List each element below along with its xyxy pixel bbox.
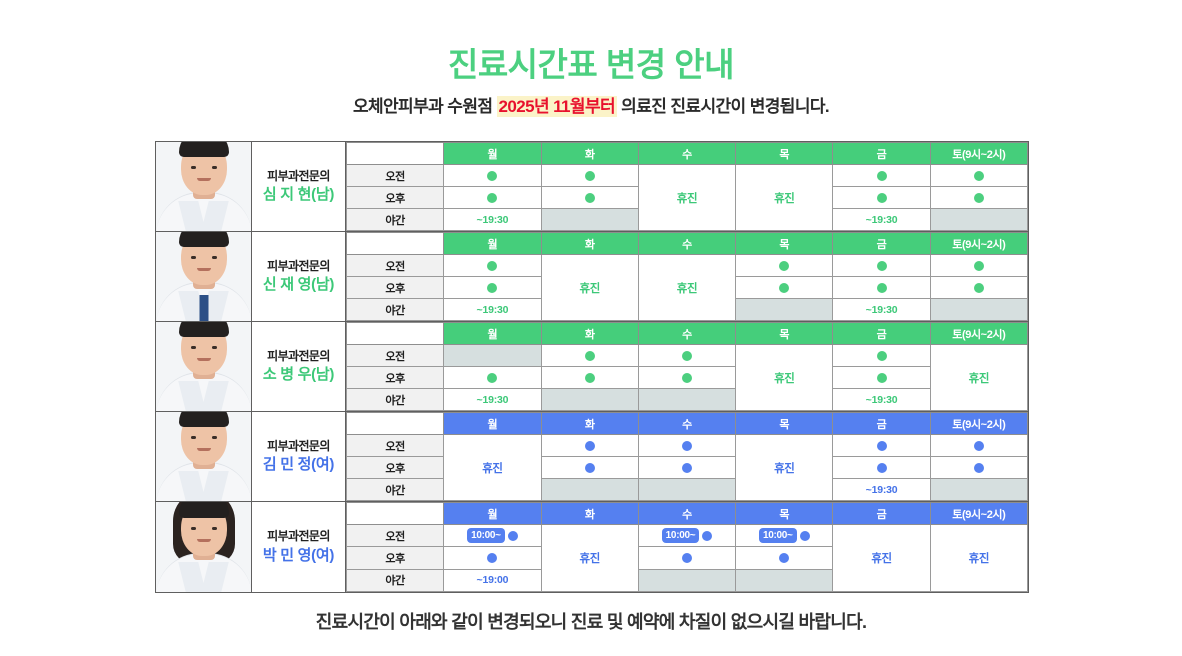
day-cell-available	[930, 165, 1027, 187]
doctor-portrait	[156, 322, 251, 411]
day-cell-time: ~19:30	[833, 299, 930, 321]
time-row-label: 야간	[347, 479, 444, 501]
schedule-row: 오전휴진휴진	[347, 345, 1028, 367]
day-cell-available	[444, 367, 541, 389]
doctor-name-cell: 피부과전문의 김 민 정(여)	[252, 412, 346, 501]
day-cell-available	[638, 367, 735, 389]
subtitle-highlight: 2025년 11월부터	[497, 96, 617, 117]
rest-label: 휴진	[580, 553, 600, 565]
available-dot-icon	[487, 553, 497, 563]
available-dot-icon	[779, 553, 789, 563]
available-dot-icon	[585, 193, 595, 203]
day-cell-available	[833, 435, 930, 457]
day-header-1: 화	[541, 143, 638, 165]
start-time-badge: 10:00~	[467, 528, 505, 543]
rest-label: 휴진	[677, 193, 697, 205]
rest-label: 휴진	[774, 193, 794, 205]
day-cell-unavailable	[444, 345, 541, 367]
day-cell-available	[833, 187, 930, 209]
day-cell-available	[444, 187, 541, 209]
day-cell-available	[444, 255, 541, 277]
available-dot-icon	[877, 373, 887, 383]
doctor-portrait	[156, 232, 251, 321]
schedule-row: 오전휴진휴진	[347, 435, 1028, 457]
day-cell-available	[930, 277, 1027, 299]
available-dot-icon	[974, 261, 984, 271]
night-time-text: ~19:30	[477, 394, 509, 406]
doctor-photo-cell	[156, 502, 252, 592]
doctor-schedule-grid: 월화수목금토(9시~2시)오전휴진휴진오후야간~19:30~19:30	[346, 142, 1028, 231]
day-cell-available	[930, 457, 1027, 479]
doctor-schedule-grid: 월화수목금토(9시~2시)오전휴진휴진오후야간~19:30	[346, 412, 1028, 501]
available-dot-icon	[508, 531, 518, 541]
doctor-specialty: 피부과전문의	[267, 438, 330, 454]
day-cell-available	[833, 255, 930, 277]
time-row-label: 야간	[347, 209, 444, 231]
start-time-badge: 10:00~	[662, 528, 700, 543]
day-header-2: 수	[638, 233, 735, 255]
doctor-name-cell: 피부과전문의 심 지 현(남)	[252, 142, 346, 231]
doctor-name: 김 민 정(여)	[263, 454, 334, 475]
rest-label: 휴진	[482, 463, 502, 475]
doctor-portrait	[156, 502, 251, 592]
day-cell-available	[444, 547, 541, 569]
available-dot-icon	[800, 531, 810, 541]
day-cell-unavailable	[930, 299, 1027, 321]
schedule-row: 오전휴진휴진	[347, 255, 1028, 277]
day-cell-available	[638, 345, 735, 367]
day-header-1: 화	[541, 413, 638, 435]
header-corner	[347, 323, 444, 345]
header-corner	[347, 503, 444, 525]
day-header-4: 금	[833, 323, 930, 345]
day-cell-unavailable	[638, 389, 735, 411]
day-header-1: 화	[541, 323, 638, 345]
available-dot-icon	[487, 171, 497, 181]
available-dot-icon	[585, 441, 595, 451]
day-header-4: 금	[833, 413, 930, 435]
time-row-label: 야간	[347, 569, 444, 591]
day-header-4: 금	[833, 503, 930, 525]
available-dot-icon	[877, 441, 887, 451]
day-cell-rest: 휴진	[541, 255, 638, 321]
night-time-text: ~19:30	[866, 214, 898, 226]
day-header-3: 목	[736, 503, 833, 525]
available-dot-icon	[585, 351, 595, 361]
day-cell-time: ~19:30	[833, 209, 930, 231]
day-cell-unavailable	[541, 389, 638, 411]
schedule-notice-page: 진료시간표 변경 안내 오체안피부과 수원점 2025년 11월부터 의료진 진…	[0, 0, 1182, 656]
available-dot-icon	[877, 193, 887, 203]
doctor-portrait	[156, 412, 251, 501]
day-cell-badge: 10:00~	[736, 525, 833, 547]
day-header-0: 월	[444, 323, 541, 345]
day-cell-available	[930, 255, 1027, 277]
doctor-specialty: 피부과전문의	[267, 528, 330, 544]
night-time-text: ~19:30	[866, 394, 898, 406]
day-header-5: 토(9시~2시)	[930, 503, 1027, 525]
day-header-1: 화	[541, 233, 638, 255]
schedule-row: 오전휴진휴진	[347, 165, 1028, 187]
available-dot-icon	[682, 553, 692, 563]
available-dot-icon	[682, 463, 692, 473]
day-cell-rest: 휴진	[638, 165, 735, 231]
doctor-name: 신 재 영(남)	[263, 274, 334, 295]
doctor-name-cell: 피부과전문의 신 재 영(남)	[252, 232, 346, 321]
available-dot-icon	[974, 283, 984, 293]
day-header-5: 토(9시~2시)	[930, 143, 1027, 165]
available-dot-icon	[487, 193, 497, 203]
day-cell-badge: 10:00~	[444, 525, 541, 547]
doctor-name: 소 병 우(남)	[263, 364, 334, 385]
day-cell-unavailable	[930, 209, 1027, 231]
day-header-0: 월	[444, 233, 541, 255]
header-corner	[347, 233, 444, 255]
available-dot-icon	[682, 441, 692, 451]
day-header-row: 월화수목금토(9시~2시)	[347, 233, 1028, 255]
time-row-label: 오후	[347, 187, 444, 209]
available-dot-icon	[779, 261, 789, 271]
day-cell-unavailable	[638, 569, 735, 591]
day-cell-available	[833, 277, 930, 299]
day-cell-available	[541, 165, 638, 187]
rest-label: 휴진	[580, 283, 600, 295]
schedule-row: 오후	[347, 367, 1028, 389]
rest-label: 휴진	[969, 373, 989, 385]
day-header-0: 월	[444, 413, 541, 435]
available-dot-icon	[487, 261, 497, 271]
available-dot-icon	[877, 351, 887, 361]
rest-label: 휴진	[774, 463, 794, 475]
available-dot-icon	[487, 283, 497, 293]
doctor-photo-cell	[156, 322, 252, 411]
available-dot-icon	[779, 283, 789, 293]
header-corner	[347, 413, 444, 435]
doctor-photo-cell	[156, 232, 252, 321]
day-cell-badge: 10:00~	[638, 525, 735, 547]
day-header-0: 월	[444, 143, 541, 165]
day-cell-rest: 휴진	[833, 525, 930, 592]
time-row-label: 오전	[347, 165, 444, 187]
available-dot-icon	[877, 171, 887, 181]
available-dot-icon	[585, 463, 595, 473]
doctor-name-cell: 피부과전문의 박 민 영(여)	[252, 502, 346, 592]
day-cell-available	[541, 187, 638, 209]
time-row-label: 오전	[347, 435, 444, 457]
day-cell-available	[736, 547, 833, 569]
night-time-text: ~19:30	[477, 304, 509, 316]
day-cell-available	[541, 345, 638, 367]
day-header-row: 월화수목금토(9시~2시)	[347, 143, 1028, 165]
day-cell-available	[736, 255, 833, 277]
day-header-5: 토(9시~2시)	[930, 233, 1027, 255]
day-cell-rest: 휴진	[444, 435, 541, 501]
available-dot-icon	[877, 261, 887, 271]
day-cell-time: ~19:30	[444, 389, 541, 411]
day-cell-rest: 휴진	[736, 345, 833, 411]
available-dot-icon	[974, 193, 984, 203]
day-cell-available	[638, 547, 735, 569]
subtitle-suffix: 의료진 진료시간이 변경됩니다.	[617, 97, 829, 116]
day-cell-available	[736, 277, 833, 299]
time-row-label: 오후	[347, 457, 444, 479]
day-cell-available	[833, 165, 930, 187]
night-time-text: ~19:30	[866, 304, 898, 316]
night-time-text: ~19:30	[477, 214, 509, 226]
available-dot-icon	[974, 463, 984, 473]
doctor-name: 박 민 영(여)	[263, 545, 334, 566]
day-header-3: 목	[736, 323, 833, 345]
available-dot-icon	[702, 531, 712, 541]
available-dot-icon	[585, 373, 595, 383]
day-cell-available	[833, 457, 930, 479]
day-header-5: 토(9시~2시)	[930, 323, 1027, 345]
doctor-row: 피부과전문의 소 병 우(남) 월화수목금토(9시~2시)오전휴진휴진오후야간~…	[156, 322, 1028, 412]
available-dot-icon	[877, 463, 887, 473]
day-header-3: 목	[736, 143, 833, 165]
day-header-2: 수	[638, 143, 735, 165]
day-cell-rest: 휴진	[736, 435, 833, 501]
day-cell-unavailable	[736, 299, 833, 321]
doctor-photo-cell	[156, 412, 252, 501]
available-dot-icon	[974, 441, 984, 451]
rest-label: 휴진	[677, 283, 697, 295]
schedule-row: 야간~19:30~19:30	[347, 389, 1028, 411]
doctor-schedule-table: 피부과전문의 심 지 현(남) 월화수목금토(9시~2시)오전휴진휴진오후야간~…	[155, 141, 1029, 593]
doctor-schedule-grid: 월화수목금토(9시~2시)오전휴진휴진오후야간~19:30~19:30	[346, 232, 1028, 321]
day-cell-unavailable	[541, 209, 638, 231]
day-cell-available	[541, 367, 638, 389]
day-header-4: 금	[833, 143, 930, 165]
available-dot-icon	[682, 373, 692, 383]
rest-label: 휴진	[774, 373, 794, 385]
doctor-photo-cell	[156, 142, 252, 231]
available-dot-icon	[487, 373, 497, 383]
doctor-name: 심 지 현(남)	[263, 184, 334, 205]
start-time-badge: 10:00~	[759, 528, 797, 543]
doctor-schedule-grid: 월화수목금토(9시~2시)오전휴진휴진오후야간~19:30~19:30	[346, 322, 1028, 411]
rest-label: 휴진	[969, 553, 989, 565]
day-cell-available	[833, 367, 930, 389]
day-cell-unavailable	[930, 479, 1027, 501]
day-header-1: 화	[541, 503, 638, 525]
day-cell-unavailable	[638, 479, 735, 501]
available-dot-icon	[974, 171, 984, 181]
day-cell-rest: 휴진	[736, 165, 833, 231]
day-cell-available	[638, 435, 735, 457]
doctor-specialty: 피부과전문의	[267, 348, 330, 364]
day-cell-available	[541, 435, 638, 457]
time-row-label: 오전	[347, 345, 444, 367]
rest-label: 휴진	[871, 553, 891, 565]
day-header-row: 월화수목금토(9시~2시)	[347, 503, 1028, 525]
day-cell-time: ~19:30	[444, 299, 541, 321]
doctor-name-cell: 피부과전문의 소 병 우(남)	[252, 322, 346, 411]
day-cell-time: ~19:30	[833, 389, 930, 411]
doctor-portrait	[156, 142, 251, 231]
day-header-0: 월	[444, 503, 541, 525]
day-cell-rest: 휴진	[638, 255, 735, 321]
day-header-5: 토(9시~2시)	[930, 413, 1027, 435]
night-time-text: ~19:30	[866, 484, 898, 496]
available-dot-icon	[877, 283, 887, 293]
day-header-2: 수	[638, 503, 735, 525]
day-cell-available	[930, 187, 1027, 209]
available-dot-icon	[682, 351, 692, 361]
day-cell-available	[444, 165, 541, 187]
day-cell-rest: 휴진	[930, 525, 1027, 592]
doctor-row: 피부과전문의 박 민 영(여) 월화수목금토(9시~2시)오전10:00~휴진1…	[156, 502, 1028, 593]
time-row-label: 오후	[347, 277, 444, 299]
doctor-row: 피부과전문의 심 지 현(남) 월화수목금토(9시~2시)오전휴진휴진오후야간~…	[156, 142, 1028, 232]
day-header-row: 월화수목금토(9시~2시)	[347, 413, 1028, 435]
day-cell-available	[444, 277, 541, 299]
doctor-row: 피부과전문의 김 민 정(여) 월화수목금토(9시~2시)오전휴진휴진오후야간~…	[156, 412, 1028, 502]
time-row-label: 야간	[347, 389, 444, 411]
time-row-label: 야간	[347, 299, 444, 321]
day-cell-available	[638, 457, 735, 479]
day-header-4: 금	[833, 233, 930, 255]
day-cell-time: ~19:30	[833, 479, 930, 501]
schedule-row: 오전10:00~휴진10:00~10:00~휴진휴진	[347, 525, 1028, 547]
day-cell-rest: 휴진	[930, 345, 1027, 411]
day-header-row: 월화수목금토(9시~2시)	[347, 323, 1028, 345]
day-cell-rest: 휴진	[541, 525, 638, 592]
doctor-row: 피부과전문의 신 재 영(남) 월화수목금토(9시~2시)오전휴진휴진오후야간~…	[156, 232, 1028, 322]
day-header-2: 수	[638, 323, 735, 345]
time-row-label: 오후	[347, 547, 444, 569]
day-cell-unavailable	[736, 569, 833, 591]
header-corner	[347, 143, 444, 165]
doctor-schedule-grid: 월화수목금토(9시~2시)오전10:00~휴진10:00~10:00~휴진휴진오…	[346, 502, 1028, 592]
time-row-label: 오후	[347, 367, 444, 389]
time-row-label: 오전	[347, 255, 444, 277]
day-header-3: 목	[736, 413, 833, 435]
page-footnote: 진료시간이 아래와 같이 변경되오니 진료 및 예약에 차질이 없으시길 바랍니…	[0, 608, 1182, 634]
day-cell-available	[833, 345, 930, 367]
day-header-2: 수	[638, 413, 735, 435]
available-dot-icon	[585, 171, 595, 181]
day-cell-time: ~19:00	[444, 569, 541, 591]
day-cell-unavailable	[541, 479, 638, 501]
day-cell-available	[930, 435, 1027, 457]
day-cell-time: ~19:30	[444, 209, 541, 231]
page-subtitle: 오체안피부과 수원점 2025년 11월부터 의료진 진료시간이 변경됩니다.	[0, 92, 1182, 117]
day-header-3: 목	[736, 233, 833, 255]
subtitle-prefix: 오체안피부과 수원점	[353, 97, 497, 116]
night-time-text: ~19:00	[477, 574, 509, 586]
time-row-label: 오전	[347, 525, 444, 547]
page-title: 진료시간표 변경 안내	[0, 38, 1182, 86]
day-cell-available	[541, 457, 638, 479]
doctor-specialty: 피부과전문의	[267, 168, 330, 184]
doctor-specialty: 피부과전문의	[267, 258, 330, 274]
